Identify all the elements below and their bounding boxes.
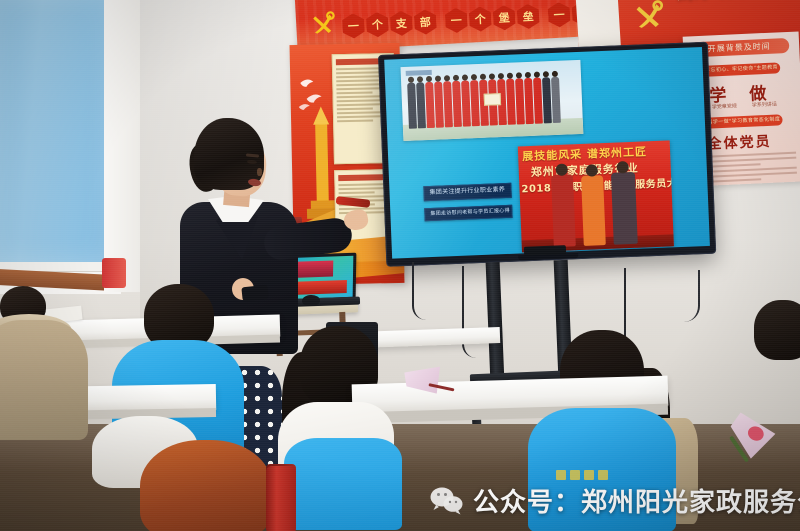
poster-sub-right: 学系列讲话 [752, 101, 777, 109]
poster-pill-bottom: "两学一做"学习教育常态化制度化 [702, 114, 782, 129]
wall-left-strip [104, 0, 140, 292]
vest-text-char [584, 470, 594, 480]
slogan-char: 一 [547, 2, 570, 28]
person-figure [416, 82, 426, 128]
award-certificate-icon [484, 93, 501, 106]
slogan-char: 部 [414, 9, 437, 35]
wechat-icon [430, 486, 464, 516]
vest-text-char [598, 470, 608, 480]
board-card-line [339, 191, 375, 194]
vest-text-char [570, 470, 580, 480]
cable [412, 262, 428, 320]
slide-group-photo [401, 60, 584, 141]
red-thermos [266, 466, 296, 531]
board-card-line [337, 119, 373, 122]
person-figure [524, 78, 534, 124]
red-cup [102, 258, 126, 288]
person-figure [434, 81, 444, 127]
person-figure [425, 82, 435, 128]
ceremony-banner-line-2: 郑州市家庭服务行业 [530, 160, 639, 180]
slogan-char: 个 [366, 12, 389, 38]
ceremony-person [551, 174, 576, 247]
person-figure [506, 79, 516, 125]
person-figure [515, 78, 525, 124]
slide-photo-ground [403, 118, 583, 141]
slogan-char: 堡 [493, 5, 516, 31]
poster-sub-left: 学党章党规 [712, 102, 737, 110]
audience-head-dyed-hair [140, 440, 272, 531]
window-blind [0, 0, 110, 264]
presenter-nose [257, 168, 262, 176]
watermark: 公众号：郑州阳光家政服务公司 [430, 482, 800, 519]
tv-screen[interactable]: 展技能风采 谱郑州工匠 郑州市家庭服务行业 2018年度职业技能家政服务员大赛 … [384, 47, 710, 259]
slide-photo-people-row [407, 77, 561, 129]
audience-blue-vest [284, 438, 402, 530]
person-figure [542, 77, 552, 123]
presentation-tv[interactable]: 展技能风采 谱郑州工匠 郑州市家庭服务行业 2018年度职业技能家政服务员大赛 … [378, 42, 716, 267]
tv-stand-mount [524, 245, 566, 256]
audience-head [754, 300, 800, 360]
person-figure [470, 80, 480, 126]
slogan-char: 一 [342, 13, 365, 39]
slide-ceremony-photo: 展技能风采 谱郑州工匠 郑州市家庭服务行业 2018年度职业技能家政服务员大赛 [518, 140, 674, 252]
flag-panel-title: 深入开展 [674, 0, 800, 6]
poster-pill-top: "不忘初心、牢记使命"主题教育 [700, 62, 780, 77]
ceremony-person [611, 172, 638, 245]
person-figure [452, 81, 462, 127]
slide-photo-logo [406, 70, 432, 76]
board-card-line [336, 91, 372, 94]
slogan-char: 支 [390, 10, 413, 36]
watermark-text: 公众号：郑州阳光家政服务公司 [473, 482, 800, 519]
slide-bullet-1: 集团关注提升行业职业素养 [423, 183, 512, 202]
ceremony-person [581, 175, 606, 246]
poster-members-label: 全体党员 [707, 131, 772, 154]
hammer-and-sickle-icon [310, 10, 337, 37]
party-flag-emblem-icon [631, 0, 667, 32]
person-figure [479, 80, 489, 126]
person-figure [533, 77, 543, 123]
person-figure [488, 79, 498, 125]
vest-text-char [556, 470, 566, 480]
cable [680, 270, 700, 322]
slide-bullet-2: 集团走访慰问老帮与学员汇报心得 [424, 205, 512, 222]
presenter-remote[interactable] [241, 285, 268, 302]
ceremony-banner-line-3: 2018年度职业技能家政服务员大赛 [521, 174, 674, 196]
slogan-char: 个 [469, 6, 492, 32]
person-figure [497, 79, 507, 125]
person-figure [551, 77, 561, 123]
person-figure [407, 83, 417, 129]
person-figure [443, 81, 453, 127]
slogan-char: 垒 [516, 3, 539, 29]
classroom-photo-scene: 一 个 支 部 一 个 堡 垒 一 个 党 员 一 面 旗 帜 深入开展 [0, 0, 800, 531]
person-figure [461, 80, 471, 126]
audience-coat [0, 320, 88, 440]
board-card-line [337, 107, 373, 110]
slogan-char: 一 [445, 7, 468, 33]
ceremony-banner-line-1: 展技能风采 谱郑州工匠 [522, 143, 647, 164]
